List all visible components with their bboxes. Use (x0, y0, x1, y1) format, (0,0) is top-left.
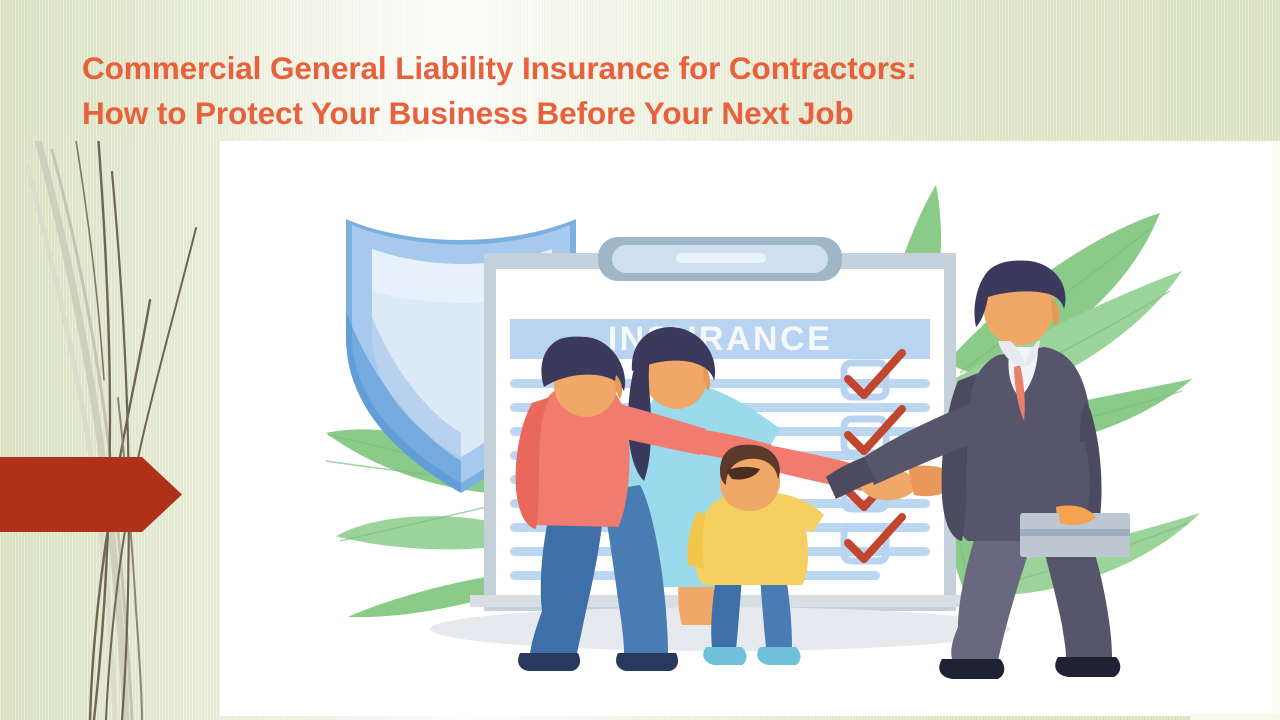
insurance-illustration: INSURANCE (220, 141, 1273, 716)
presentation-slide: Commercial General Liability Insurance f… (0, 0, 1280, 720)
arrow-banner-shape (0, 455, 182, 534)
page-title: Commercial General Liability Insurance f… (82, 46, 1257, 136)
slide-right-edge (1272, 141, 1280, 720)
